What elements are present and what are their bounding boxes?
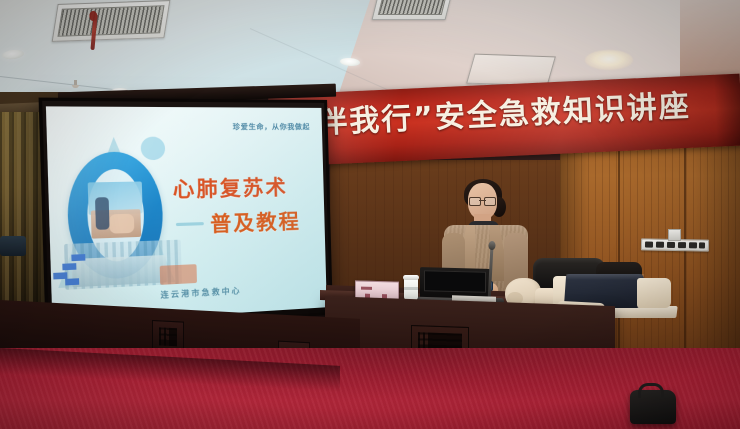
fire-sprinkler-head [72, 80, 79, 89]
slide-cpr-patient [109, 214, 134, 234]
slide-photo-fragment [160, 264, 197, 285]
floor-bag [630, 390, 676, 424]
slide-circle-accent [140, 137, 165, 161]
slide-title-line1: 心肺复苏术 [172, 171, 288, 203]
presentation-slide: 珍爱生命，从你我做起 心肺复苏术 普及教程 连云港市急救中心 [46, 106, 327, 324]
panel-motif-icon [159, 327, 177, 346]
slide-title-line2: 普及教程 [210, 205, 301, 238]
laptop-screen [424, 270, 486, 293]
slide-organization: 连云港市急救中心 [160, 285, 241, 301]
ceiling-air-vent [52, 0, 171, 42]
eyeglasses-icon [469, 197, 496, 204]
ceiling-air-vent [466, 54, 556, 87]
vent-grille-icon [57, 5, 164, 37]
cup-band [404, 287, 418, 290]
side-equipment [0, 236, 26, 256]
conference-hall-photo: 康伴我行”安全急救知识讲座 珍爱生命，从你我做起 心肺复苏术 普及教程 连云 [0, 0, 740, 429]
bag-handle [638, 383, 664, 398]
recessed-downlight-glow [585, 50, 633, 70]
nameplate-text-line [361, 287, 372, 290]
slide-tagline: 珍爱生命，从你我做起 [233, 122, 311, 132]
water-cup [404, 278, 418, 300]
slide-cpr-figure [95, 197, 110, 230]
vent-grille-icon [378, 0, 446, 15]
banner-fold-shadow [714, 74, 740, 147]
ceiling-air-vent [372, 0, 453, 20]
projector-screen: 珍爱生命，从你我做起 心肺复苏术 普及教程 连云港市急救中心 [39, 98, 333, 334]
slide-divider [176, 222, 204, 226]
power-plug-icon [668, 229, 681, 241]
slide-step-blocks [52, 234, 88, 286]
event-banner-text: 康伴我行”安全急救知识讲座 [285, 90, 736, 140]
manikin-legs [637, 278, 671, 308]
